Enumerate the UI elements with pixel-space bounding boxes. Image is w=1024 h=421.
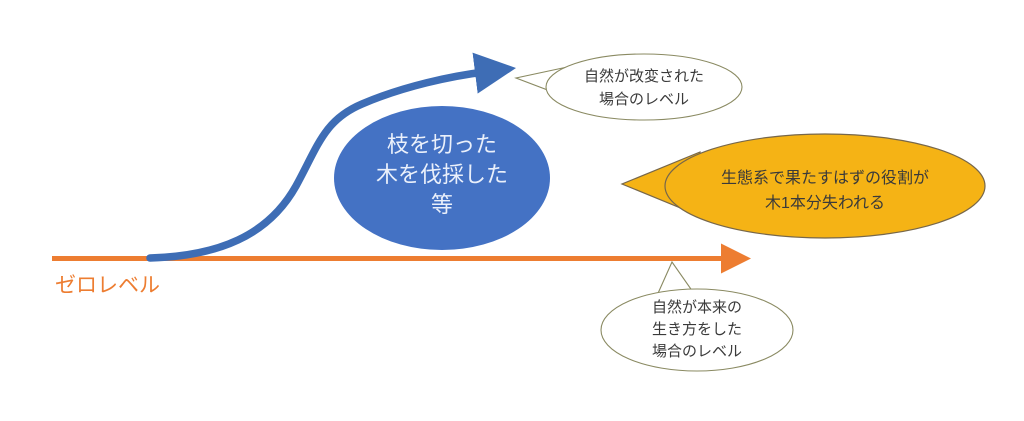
zero-level-label: ゼロレベル [55, 274, 160, 297]
cause-ellipse-line-2: 木を伐採した [376, 162, 508, 187]
altered-nature-callout-line-1: 自然が改変された [584, 68, 704, 85]
cause-ellipse-line-1: 枝を切った [387, 132, 497, 157]
altered-nature-callout-line-2: 場合のレベル [599, 91, 689, 108]
consequence-callout-line-2: 木1本分失われる [765, 194, 885, 212]
diagram-root: 枝を切った 木を伐採した 等 生態系で果たすはずの役割が 木1本分失われる 自然… [0, 0, 1024, 421]
natural-level-callout-line-2: 生き方をした [652, 321, 742, 338]
altered-nature-callout-shape [546, 54, 742, 120]
diagram-canvas: 枝を切った 木を伐採した 等 生態系で果たすはずの役割が 木1本分失われる 自然… [0, 0, 1024, 421]
cause-ellipse[interactable]: 枝を切った 木を伐採した 等 [334, 106, 550, 250]
altered-nature-level-callout[interactable]: 自然が改変された 場合のレベル [516, 54, 742, 120]
consequence-callout-line-1: 生態系で果たすはずの役割が [721, 169, 929, 187]
natural-level-callout-line-3: 場合のレベル [652, 343, 742, 360]
natural-level-callout-line-1: 自然が本来の [652, 299, 742, 316]
natural-level-callout[interactable]: 自然が本来の 生き方をした 場合のレベル [601, 262, 793, 371]
cause-ellipse-line-3: 等 [431, 192, 453, 217]
consequence-callout[interactable]: 生態系で果たすはずの役割が 木1本分失われる [622, 134, 985, 238]
